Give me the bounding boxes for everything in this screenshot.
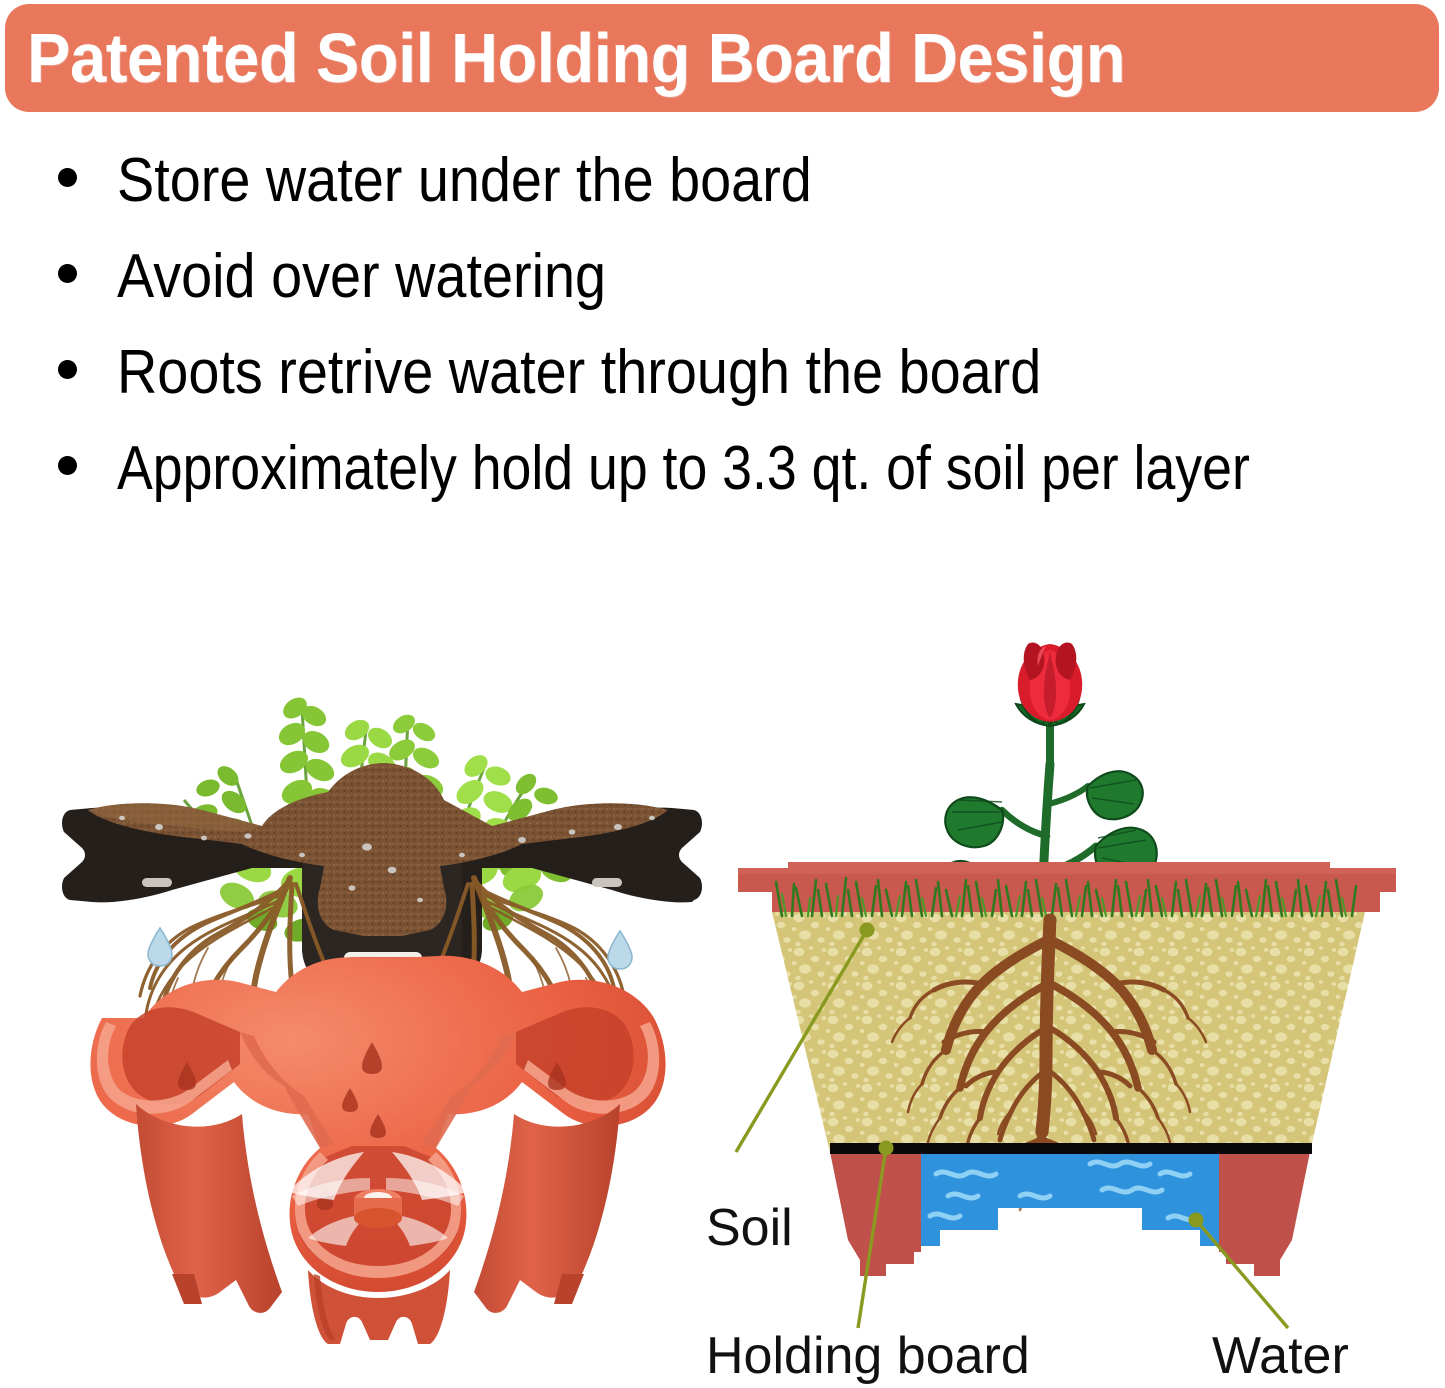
stackable-planter	[90, 956, 665, 1344]
list-item: Approximately hold up to 3.3 qt. of soil…	[0, 438, 1445, 534]
list-item-label: Store water under the board	[117, 150, 812, 212]
bullet-dot-icon	[58, 360, 77, 379]
page-banner: Patented Soil Holding Board Design	[5, 4, 1439, 112]
feature-list: Store water under the board Avoid over w…	[0, 150, 1445, 534]
list-item-label: Roots retrive water through the board	[117, 342, 1041, 404]
cross-section-diagram	[690, 640, 1445, 1388]
list-item-label: Avoid over watering	[117, 246, 606, 308]
label-soil: Soil	[706, 1202, 793, 1254]
label-holding-board: Holding board	[706, 1330, 1030, 1382]
list-item: Store water under the board	[0, 150, 1445, 246]
bullet-dot-icon	[58, 168, 77, 187]
bullet-dot-icon	[58, 456, 77, 475]
label-water: Water	[1212, 1330, 1349, 1382]
holding-board-line	[830, 1143, 1312, 1154]
list-item: Avoid over watering	[0, 246, 1445, 342]
page-title: Patented Soil Holding Board Design	[27, 23, 1125, 93]
list-item-label: Approximately hold up to 3.3 qt. of soil…	[117, 438, 1250, 500]
product-photo	[52, 548, 712, 1348]
bullet-dot-icon	[58, 264, 77, 283]
water-reservoir	[921, 1152, 1219, 1252]
list-item: Roots retrive water through the board	[0, 342, 1445, 438]
